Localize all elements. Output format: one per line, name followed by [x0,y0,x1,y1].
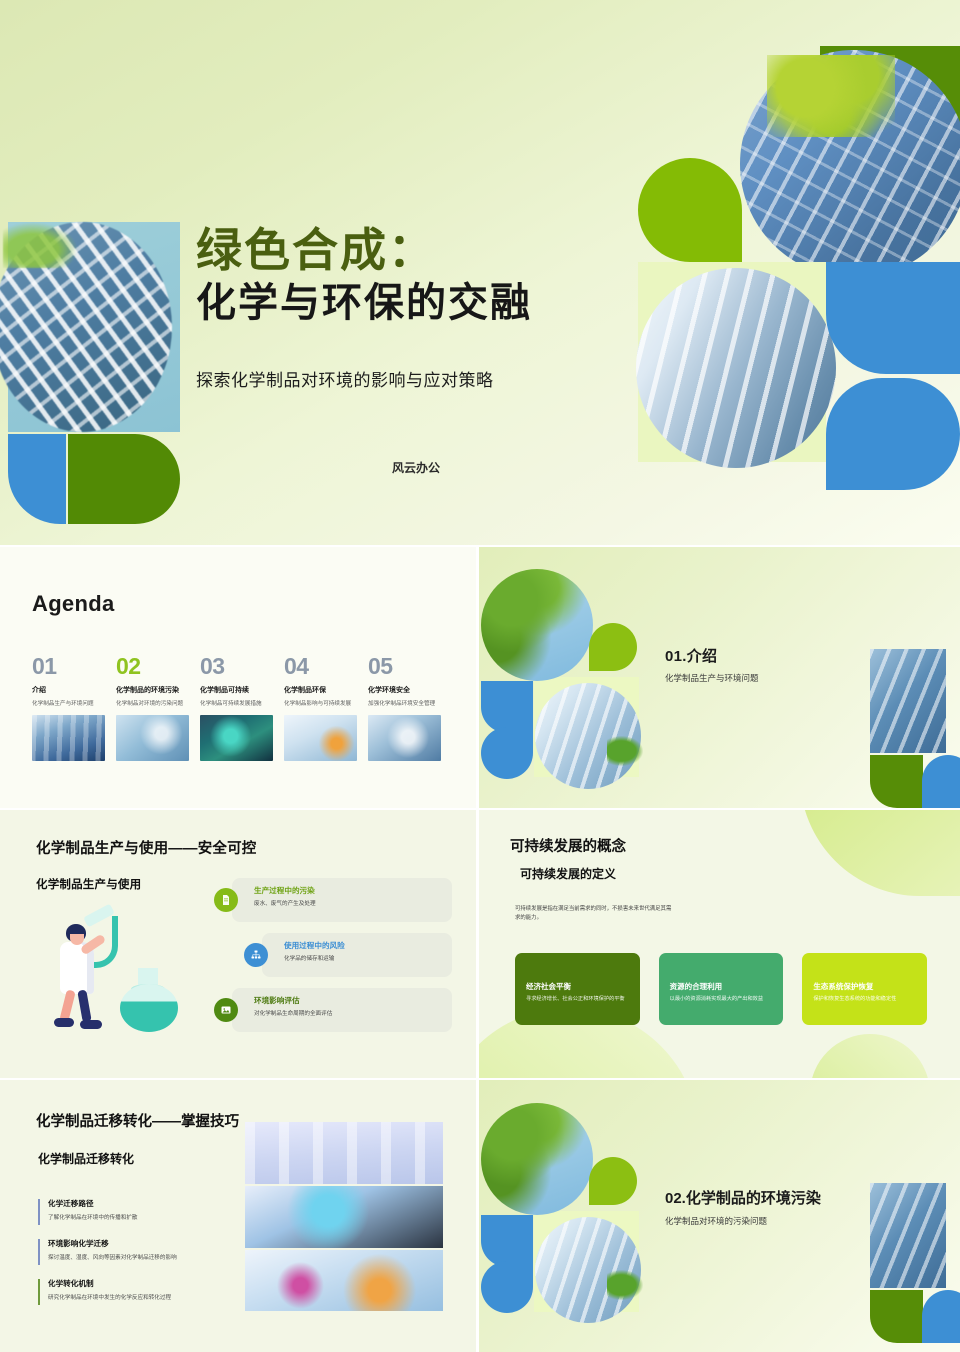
building-photo-right [870,1183,946,1288]
sustainability-card-desc-2: 以最小的资源消耗实现最大的产出和效益 [670,996,773,1004]
sustainability-card-desc-1: 寻求经济增长、社会公正和环境保护的平衡 [526,996,629,1004]
tree-sky-circle-photo [481,1103,593,1215]
section-02-subheading: 化学制品对环境的污染问题 [665,1215,821,1227]
production-cards-list: 生产过程中的污染 废水、废气的产生及处理 使用过程中的风险 化学品的储存和运输 [232,878,452,1043]
scientist-pouring-flask-illustration [62,910,202,1040]
sustainability-card-1[interactable]: 经济社会平衡 寻求经济增长、社会公正和环境保护的平衡 [515,953,640,1025]
migration-item-title-2: 环境影响化学迁移 [48,1238,238,1249]
section-01-heading: 01.介绍 [665,645,759,666]
agenda-item-04[interactable]: 04 化学制品环保 化学制品影响与可持续发展 [284,655,357,761]
blue-shape-left-upper [481,1215,533,1267]
agenda-item-02[interactable]: 02 化学制品的环境污染 化学制品对环境的污染问题 [116,655,189,761]
building-circle-photo-middle-right [636,268,836,468]
section-text-block: 02.化学制品的环境污染 化学制品对环境的污染问题 [665,1187,821,1227]
agenda-desc-02: 化学制品对环境的污染问题 [116,700,189,708]
agenda-desc-05: 加强化学制品环境安全管理 [368,700,441,708]
lab-instruments-photo [245,1250,443,1313]
agenda-item-05[interactable]: 05 化学环境安全 加强化学制品环境安全管理 [368,655,441,761]
agenda-name-05: 化学环境安全 [368,687,441,696]
agenda-thumbnail-03 [200,715,273,761]
sustainability-card-title-3: 生态系统保护恢复 [813,981,916,992]
migration-items-list: 化学迁移路径 了解化学制品在环境中的传播和扩散 环境影响化学迁移 探讨温度、湿度… [38,1198,238,1318]
green-shape-bottom-right [870,755,923,808]
agenda-name-01: 介绍 [32,687,105,696]
title-text-block: 绿色合成： 化学与环保的交融 探索化学制品对环境的影响与应对策略 [196,224,616,391]
sustainability-card-title-2: 资源的合理利用 [670,981,773,992]
agenda-number-02: 02 [116,655,189,678]
blue-shape-left-upper [481,681,533,733]
tree-sky-circle-photo [481,569,593,681]
flask-icon [114,962,182,1032]
migration-item-desc-1: 了解化学制品在环境中的传播和扩散 [48,1213,238,1221]
production-card-desc-2: 化学品的储存和运输 [284,954,442,962]
section-01-subheading: 化学制品生产与环境问题 [665,672,759,684]
production-card-title-1: 生产过程中的污染 [254,885,442,896]
slide-section-01[interactable]: 01.介绍 化学制品生产与环境问题 [479,547,960,808]
agenda-desc-01: 化学制品生产与环境问题 [32,700,105,708]
slide-agenda[interactable]: Agenda 01 介绍 化学制品生产与环境问题 02 化学制品的环境污染 化学… [0,547,476,808]
scientist-leg-back [77,989,91,1022]
migration-title: 化学制品迁移转化——掌握技巧 [36,1110,239,1131]
agenda-number-05: 05 [368,655,441,678]
blue-shape-bottom-right [922,755,960,808]
slide-migration[interactable]: 化学制品迁移转化——掌握技巧 化学制品迁移转化 化学迁移路径 了解化学制品在环境… [0,1080,476,1352]
agenda-number-01: 01 [32,655,105,678]
agenda-thumbnail-04 [284,715,357,761]
migration-subtitle: 化学制品迁移转化 [38,1150,134,1167]
production-card-usage-risk[interactable]: 使用过程中的风险 化学品的储存和运输 [262,933,452,977]
image-icon [214,998,238,1022]
green-lobe-shape [589,623,637,671]
production-card-title-2: 使用过程中的风险 [284,940,442,951]
agenda-item-03[interactable]: 03 化学制品可持续 化学制品可持续发展措施 [200,655,273,761]
building-photo-right [870,649,946,753]
agenda-name-03: 化学制品可持续 [200,687,273,696]
blue-shape-bottom-right [826,378,960,490]
green-lobe-shape [589,1157,637,1205]
migration-item-1[interactable]: 化学迁移路径 了解化学制品在环境中的传播和扩散 [38,1198,238,1221]
sustainability-card-2[interactable]: 资源的合理利用 以最小的资源消耗实现最大的产出和效益 [659,953,784,1025]
building-circle-photo-left [0,222,172,432]
migration-item-2[interactable]: 环境影响化学迁移 探讨温度、湿度、风向等因素对化学制品迁移的影响 [38,1238,238,1261]
slide-section-02[interactable]: 02.化学制品的环境污染 化学制品对环境的污染问题 [479,1080,960,1352]
scientist-shoe-back [80,1020,102,1029]
title-heading-line1: 绿色合成： [196,224,616,277]
migration-item-desc-3: 研究化学制品在环境中发生的化学反应和转化过程 [48,1293,238,1301]
slide-title[interactable]: 绿色合成： 化学与环保的交融 探索化学制品对环境的影响与应对策略 风云办公 [0,0,960,545]
agenda-desc-04: 化学制品影响与可持续发展 [284,700,357,708]
title-author: 风云办公 [392,459,440,476]
document-icon [214,888,238,912]
migration-item-3[interactable]: 化学转化机制 研究化学制品在环境中发生的化学反应和转化过程 [38,1278,238,1301]
migration-photo-stack [245,1122,443,1315]
agenda-thumbnail-05 [368,715,441,761]
scientist-shoe-front [54,1018,74,1027]
migration-item-title-1: 化学迁移路径 [48,1198,238,1209]
production-card-title-3: 环境影响评估 [254,995,442,1006]
sustainability-title: 可持续发展的概念 [510,835,626,856]
agenda-name-02: 化学制品的环境污染 [116,687,189,696]
slide-production-use[interactable]: 化学制品生产与使用——安全可控 化学制品生产与使用 生产过程 [0,810,476,1078]
petri-dish-photo [245,1186,443,1250]
blue-shape-middle-right [826,262,960,374]
building-leaf-circle-photo [535,683,641,789]
title-heading-line2: 化学与环保的交融 [196,279,616,328]
production-card-desc-1: 废水、废气的产生及处理 [254,899,442,907]
sustainability-card-desc-3: 保护和恢复生态系统的功能和稳定性 [813,996,916,1004]
building-leaf-circle-photo [535,1217,641,1323]
presentation-deck: 绿色合成： 化学与环保的交融 探索化学制品对环境的影响与应对策略 风云办公 Ag… [0,0,960,1352]
green-rounded-shape-bottom-left [68,434,180,524]
sustainability-card-3[interactable]: 生态系统保护恢复 保护和恢复生态系统的功能和稳定性 [802,953,927,1025]
blue-shape-left-lower [481,727,533,779]
green-blob-decoration-bottom-right [810,1034,930,1078]
agenda-items-row: 01 介绍 化学制品生产与环境问题 02 化学制品的环境污染 化学制品对环境的污… [32,655,452,761]
section-02-heading: 02.化学制品的环境污染 [665,1187,821,1208]
section-text-block: 01.介绍 化学制品生产与环境问题 [665,645,759,684]
green-lobe-shape [638,158,742,262]
title-subtitle: 探索化学制品对环境的影响与应对策略 [196,366,616,391]
building-leaves-circle-photo-top-right [740,50,960,278]
migration-item-title-3: 化学转化机制 [48,1278,238,1289]
agenda-number-04: 04 [284,655,357,678]
blue-shape-left-lower [481,1261,533,1313]
sustainability-card-title-1: 经济社会平衡 [526,981,629,992]
production-card-impact-assessment[interactable]: 环境影响评估 对化学制品生命周期的全面评估 [232,988,452,1032]
agenda-desc-03: 化学制品可持续发展措施 [200,700,273,708]
migration-item-desc-2: 探讨温度、湿度、风向等因素对化学制品迁移的影响 [48,1253,238,1261]
slide-sustainability[interactable]: 可持续发展的概念 可持续发展的定义 可持续发展是指在满足当前需求的同时，不损害未… [479,810,960,1078]
sustainability-paragraph: 可持续发展是指在满足当前需求的同时，不损害未来世代满足其需求的能力。 [515,905,675,923]
sustainability-cards-row: 经济社会平衡 寻求经济增长、社会公正和环境保护的平衡 资源的合理利用 以最小的资… [515,953,927,1025]
agenda-title: Agenda [32,591,114,617]
agenda-number-03: 03 [200,655,273,678]
agenda-thumbnail-02 [116,715,189,761]
green-blob-decoration-top-right [800,810,960,896]
blue-shape-bottom-right [922,1290,960,1343]
lab-room-photo [245,1122,443,1186]
production-card-desc-3: 对化学制品生命周期的全面评估 [254,1009,442,1017]
production-card-pollution[interactable]: 生产过程中的污染 废水、废气的产生及处理 [232,878,452,922]
network-icon [244,943,268,967]
production-slide-subtitle: 化学制品生产与使用 [36,876,141,892]
agenda-name-04: 化学制品环保 [284,687,357,696]
blue-quarter-shape-bottom-left [8,434,66,524]
production-slide-title: 化学制品生产与使用——安全可控 [36,837,257,858]
green-shape-bottom-right [870,1290,923,1343]
agenda-thumbnail-01 [32,715,105,761]
sustainability-subtitle: 可持续发展的定义 [520,865,616,882]
agenda-item-01[interactable]: 01 介绍 化学制品生产与环境问题 [32,655,105,761]
